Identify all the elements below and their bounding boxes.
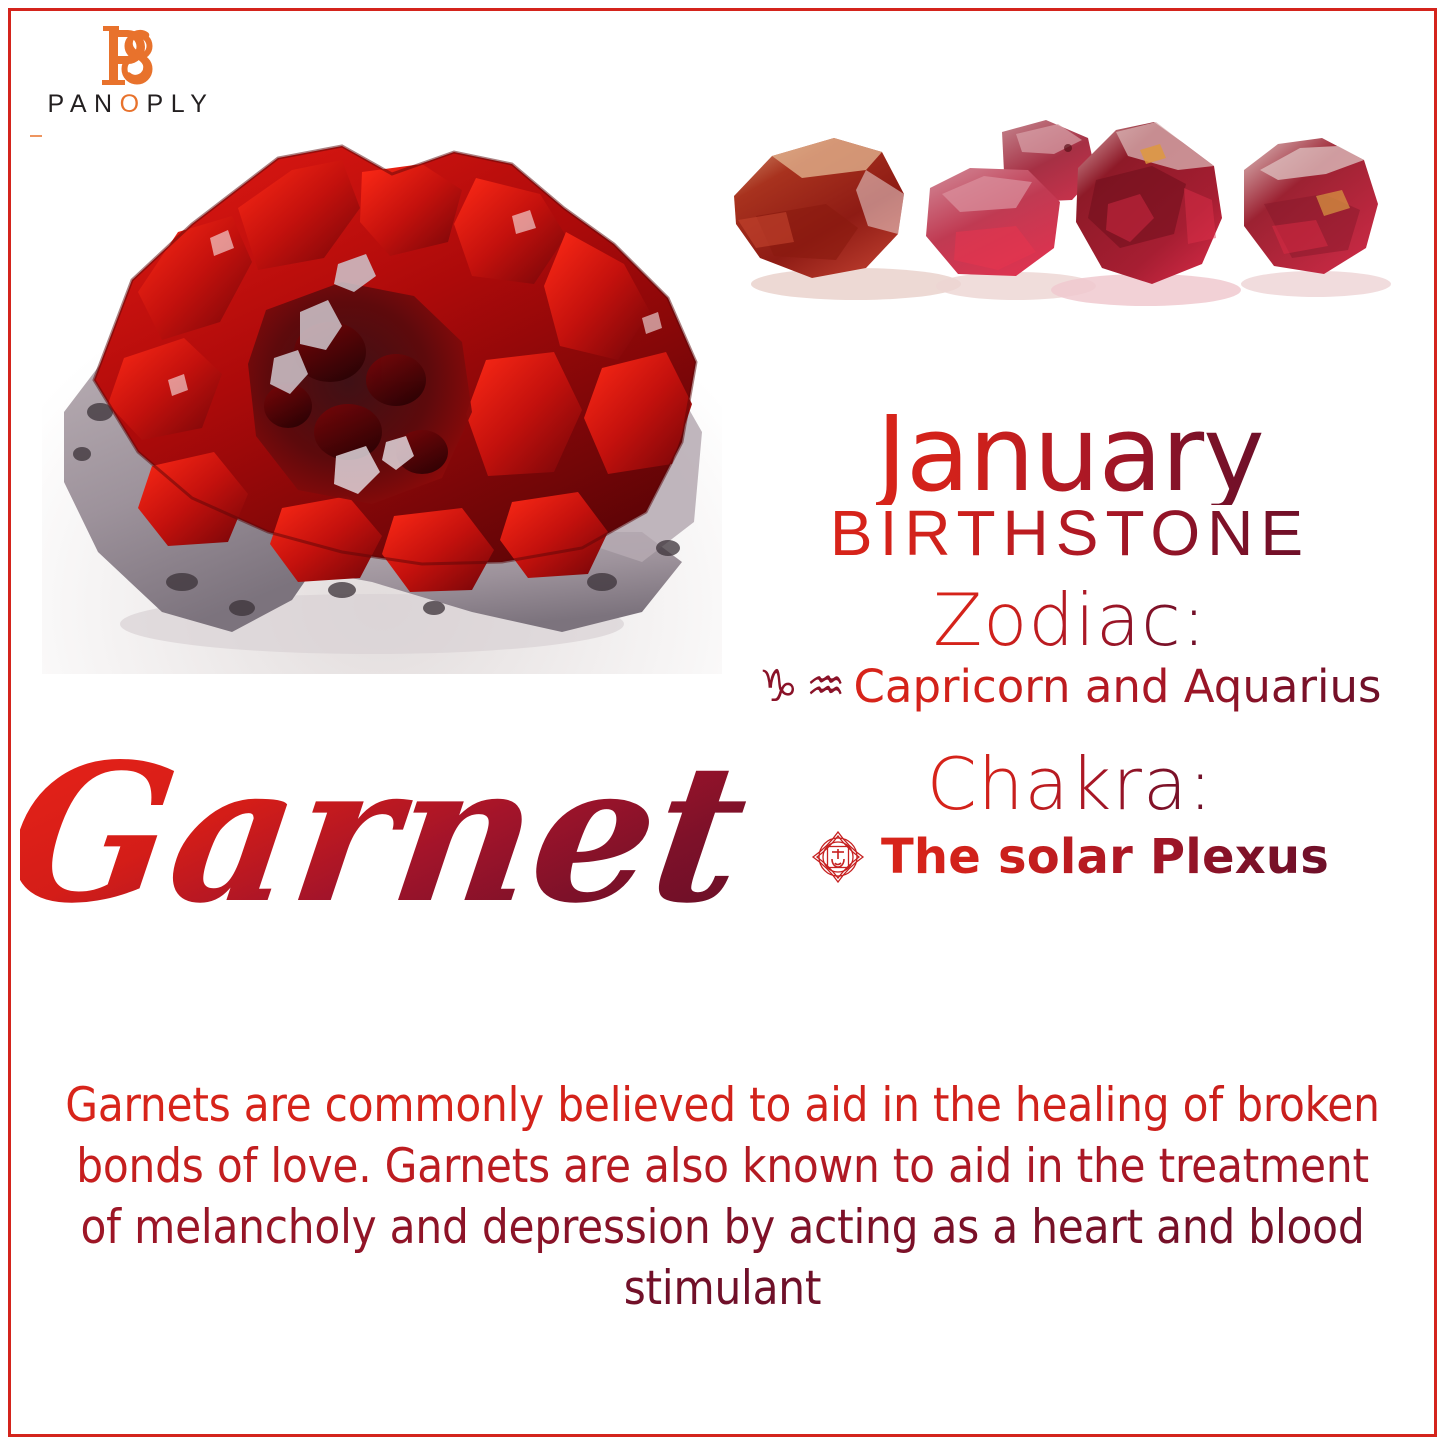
- stone-name-heading: Garnet: [20, 700, 760, 970]
- chakra-value: The solar Plexus: [881, 829, 1329, 885]
- chakra-label: Chakra:: [927, 747, 1214, 823]
- zodiac-label: Zodiac:: [933, 583, 1207, 659]
- birthstone-info-block: January BIRTHSTONE Zodiac: ♑ ♒ Capricorn…: [740, 405, 1400, 885]
- garnet-crystal-cluster-image: [42, 112, 722, 674]
- birthstone-info-card: PANOPLY SILVER: [0, 0, 1445, 1445]
- month-title: January: [876, 405, 1263, 505]
- ps-monogram-icon: [91, 22, 165, 96]
- capricorn-symbol-icon: ♑: [759, 665, 798, 709]
- stone-name-text: Garnet: [20, 723, 759, 946]
- aquarius-symbol-icon: ♒: [806, 665, 845, 709]
- birthstone-subtitle: BIRTHSTONE: [830, 501, 1310, 565]
- solar-plexus-chakra-icon: [811, 830, 865, 884]
- rough-garnet-gemstones-image: [716, 108, 1406, 313]
- zodiac-value: Capricorn and Aquarius: [853, 660, 1381, 713]
- zodiac-value-row: ♑ ♒ Capricorn and Aquarius: [740, 660, 1400, 713]
- chakra-value-row: The solar Plexus: [740, 829, 1400, 885]
- description-text: Garnets are commonly believed to aid in …: [65, 1078, 1379, 1316]
- description-paragraph: Garnets are commonly believed to aid in …: [60, 1075, 1385, 1319]
